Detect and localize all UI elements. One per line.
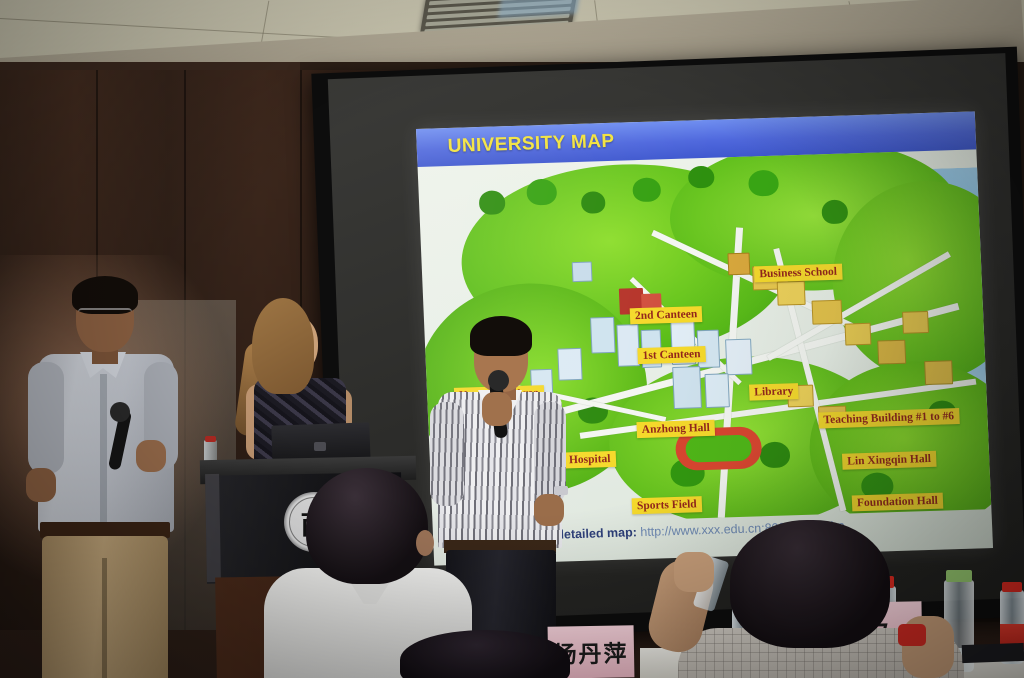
map-label: Library: [749, 383, 799, 401]
map-label: Anzhong Hall: [636, 420, 715, 439]
trouser-seam: [102, 558, 107, 678]
laptop-on-table: [962, 643, 1024, 663]
presentation-room-photo: UNIVERSITY MAP: [0, 0, 1024, 678]
bottle-cap: [1002, 582, 1022, 592]
hand-holding-bottle: [674, 552, 714, 592]
hand-holding-microphone: [482, 392, 512, 426]
left-arm: [28, 362, 64, 474]
hair: [306, 468, 428, 584]
shirt-placket: [100, 374, 107, 524]
wristwatch-icon: [554, 486, 568, 495]
audience-member-drinking-water: [690, 520, 950, 678]
red-bottle-cap: [898, 624, 926, 646]
map-label: Foundation Hall: [852, 493, 943, 512]
hair: [252, 298, 314, 394]
hair: [730, 520, 890, 648]
ear: [416, 530, 434, 556]
eyeglasses-icon: [78, 308, 132, 319]
laptop-logo: [314, 442, 326, 451]
presenter-left: [18, 282, 188, 678]
map-label: Business School: [754, 264, 842, 283]
bottle-cap: [205, 436, 216, 442]
hair: [400, 630, 570, 678]
right-hand: [534, 494, 564, 526]
hair: [470, 316, 532, 356]
map-label: Lin Xingqin Hall: [842, 451, 936, 470]
map-label: Hospital: [564, 451, 616, 469]
podium-edge: [205, 474, 221, 582]
microphone-head-icon: [488, 370, 509, 391]
microphone-head-icon: [110, 402, 130, 422]
map-label: Sports Field: [632, 496, 702, 515]
right-hand: [136, 440, 166, 472]
slide-title: UNIVERSITY MAP: [447, 131, 615, 158]
left-hand: [26, 468, 56, 502]
map-label: 1st Canteen: [637, 346, 705, 364]
map-label: 2nd Canteen: [630, 306, 703, 325]
audience-member-dark-hair: [400, 630, 580, 678]
